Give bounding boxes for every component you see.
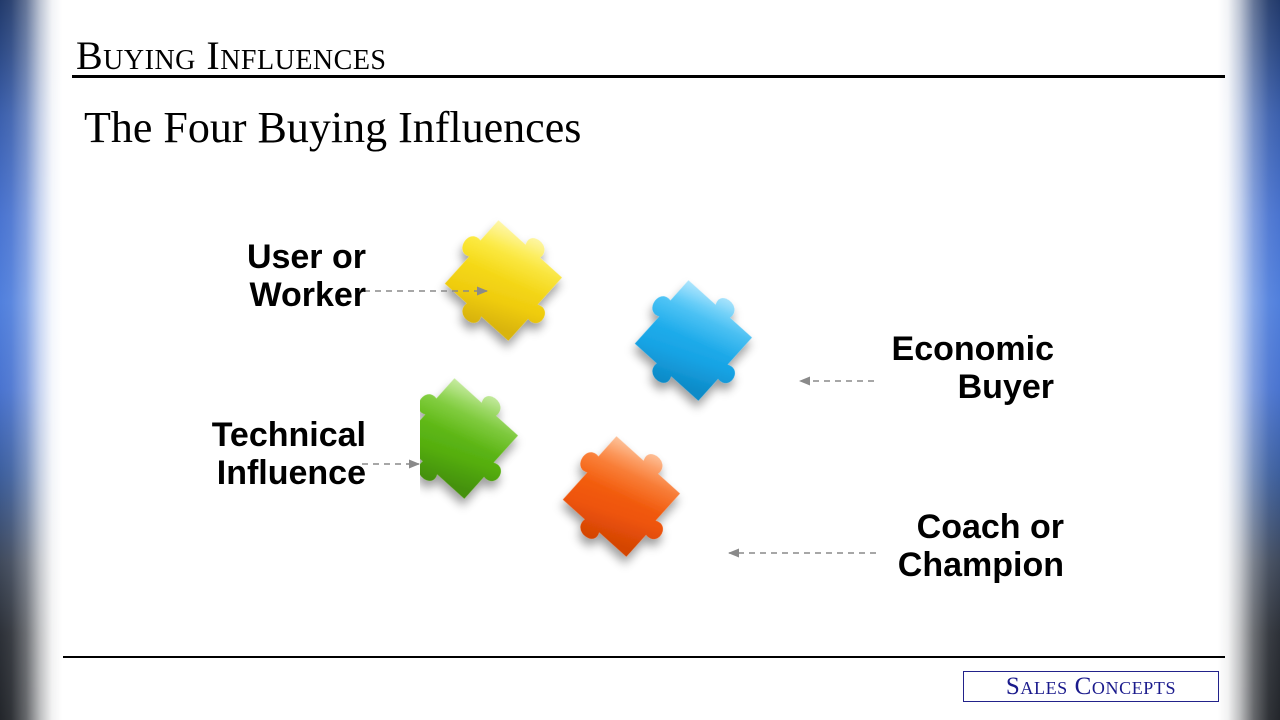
left-band-fade — [0, 0, 62, 720]
sales-concepts-logo-text: Sales Concepts — [1006, 673, 1176, 701]
four-buying-influences-puzzle-graphic — [420, 200, 840, 620]
coach-or-champion-piece — [544, 420, 698, 574]
footer-divider-rule — [63, 656, 1225, 658]
left-edge-gradient-band — [0, 0, 62, 720]
slide: Buying Influences The Four Buying Influe… — [0, 0, 1280, 720]
right-edge-gradient-band — [1218, 0, 1280, 720]
right-band-fade — [1218, 0, 1280, 720]
label-user-or-worker: User or Worker — [130, 238, 366, 314]
label-technical-influence: Technical Influence — [86, 416, 366, 492]
puzzle-svg — [420, 200, 840, 620]
label-economic-buyer: Economic Buyer — [836, 330, 1054, 406]
sales-concepts-logo: Sales Concepts — [963, 671, 1219, 702]
right-band-gradient — [1218, 0, 1280, 720]
left-band-gradient — [0, 0, 62, 720]
label-coach-or-champion: Coach or Champion — [810, 508, 1064, 584]
slide-header-title: Buying Influences — [76, 32, 387, 79]
technical-influence-piece — [420, 362, 536, 516]
header-divider-rule — [72, 75, 1225, 78]
economic-buyer-piece — [616, 264, 770, 418]
user-or-worker-piece — [426, 204, 580, 358]
slide-subtitle: The Four Buying Influences — [84, 102, 581, 153]
